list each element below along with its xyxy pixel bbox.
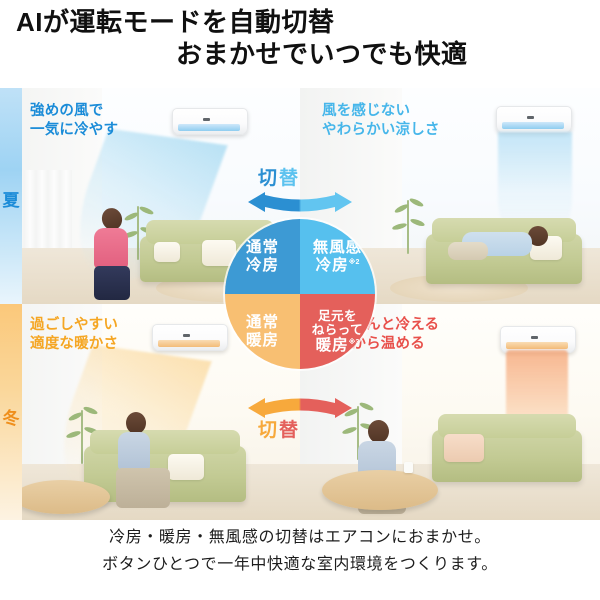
switch-label-heating: 切替 [258, 415, 300, 442]
plant [392, 192, 426, 254]
footer-line-2: ボタンひとつで一年中快適な室内環境をつくります。 [0, 551, 600, 578]
ac-vent [158, 340, 220, 347]
leaf [410, 218, 426, 228]
mode-foot-heating-line3: 暖房※3 [316, 337, 360, 354]
mode-normal-heating: 通常 暖房 [225, 294, 300, 369]
ac-led [527, 116, 534, 119]
footer-caption: 冷房・暖房・無風感の切替はエアコンにおまかせ。 ボタンひとつで一年中快適な室内環… [0, 524, 600, 578]
mode-circle: 通常 冷房 無風感 冷房※2 通常 暖房 足元を ねらって 暖房※3 [225, 219, 375, 369]
air-conditioner-icon [172, 108, 248, 135]
mode-foot-heating-line1: 足元を [318, 309, 357, 323]
mode-normal-heating-line2: 暖房 [246, 332, 279, 349]
mode-foot-heating: 足元を ねらって 暖房※3 [300, 294, 375, 369]
person-legs [94, 266, 130, 300]
note-ref-3: ※3 [349, 339, 360, 346]
double-arrow-cool-icon [245, 192, 355, 218]
leaf [392, 222, 408, 231]
plant-stem [81, 410, 83, 464]
person-relaxing [448, 224, 552, 264]
page-title: AIが運転モードを自動切替 おまかせでいつでも快適 [0, 6, 600, 70]
switch-label-cooling-a: 切 [258, 168, 279, 189]
person-torso [94, 228, 128, 268]
leaf [139, 205, 155, 216]
promo-page: AIが運転モードを自動切替 おまかせでいつでも快適 [0, 0, 600, 600]
sofa [432, 430, 582, 482]
switch-label-cooling: 切替 [258, 163, 300, 190]
person-head [368, 420, 389, 443]
round-table [322, 470, 438, 510]
ac-led [203, 118, 210, 121]
leaf [83, 405, 99, 415]
ac-vent [506, 342, 568, 349]
mode-normal-cooling-line2: 冷房 [246, 257, 279, 274]
person-cooling-off [88, 208, 140, 300]
caption-summer-soft: 風を感じない やわらかい涼しさ [322, 102, 440, 140]
person-head [126, 412, 146, 434]
ac-led [531, 336, 538, 339]
leaf [409, 197, 425, 208]
mode-windless-cooling-line1: 無風感 [313, 239, 363, 256]
caption-summer-strong: 強めの風で 一気に冷やす [30, 102, 118, 140]
leaf [66, 430, 82, 439]
ac-vent [178, 124, 240, 131]
switch-label-heating-b: 替 [279, 420, 300, 441]
cushion [154, 242, 180, 262]
season-label-summer: 夏 [2, 186, 20, 211]
mode-foot-heating-line2: ねらって [312, 323, 363, 337]
mode-windless-cooling: 無風感 冷房※2 [300, 219, 375, 294]
headline-line-2: おまかせでいつでも快適 [0, 38, 600, 70]
person-skirt [116, 468, 170, 508]
air-conditioner-icon [496, 106, 572, 133]
mode-normal-cooling-line1: 通常 [246, 239, 279, 256]
switch-label-heating-a: 切 [258, 420, 279, 441]
cup [404, 462, 413, 473]
mode-normal-cooling: 通常 冷房 [225, 219, 300, 294]
footer-line-1: 冷房・暖房・無風感の切替はエアコンにおまかせ。 [0, 524, 600, 551]
leaf [359, 401, 375, 412]
coffee-table [14, 480, 110, 514]
cushion [444, 434, 484, 462]
caption-winter-normal: 過ごしやすい 適度な暖かさ [30, 316, 118, 354]
mode-normal-heating-line1: 通常 [246, 314, 279, 331]
switch-label-cooling-b: 替 [279, 168, 300, 189]
headline-line-1: AIが運転モードを自動切替 [0, 6, 600, 38]
air-conditioner-icon [500, 326, 576, 353]
mode-windless-cooling-line2: 冷房※2 [316, 257, 360, 274]
air-conditioner-icon [152, 324, 228, 351]
mode-windless-cooling-word: 冷房 [316, 257, 349, 274]
ac-vent [502, 122, 564, 129]
ac-led [183, 334, 190, 337]
note-ref-2: ※2 [349, 258, 360, 265]
season-label-winter: 冬 [2, 404, 20, 429]
plant-stem [407, 200, 409, 254]
person-torso [118, 432, 150, 470]
person-blanket [448, 242, 488, 260]
person-seated-warm [114, 412, 174, 508]
mode-foot-heating-word: 暖房 [316, 337, 349, 354]
